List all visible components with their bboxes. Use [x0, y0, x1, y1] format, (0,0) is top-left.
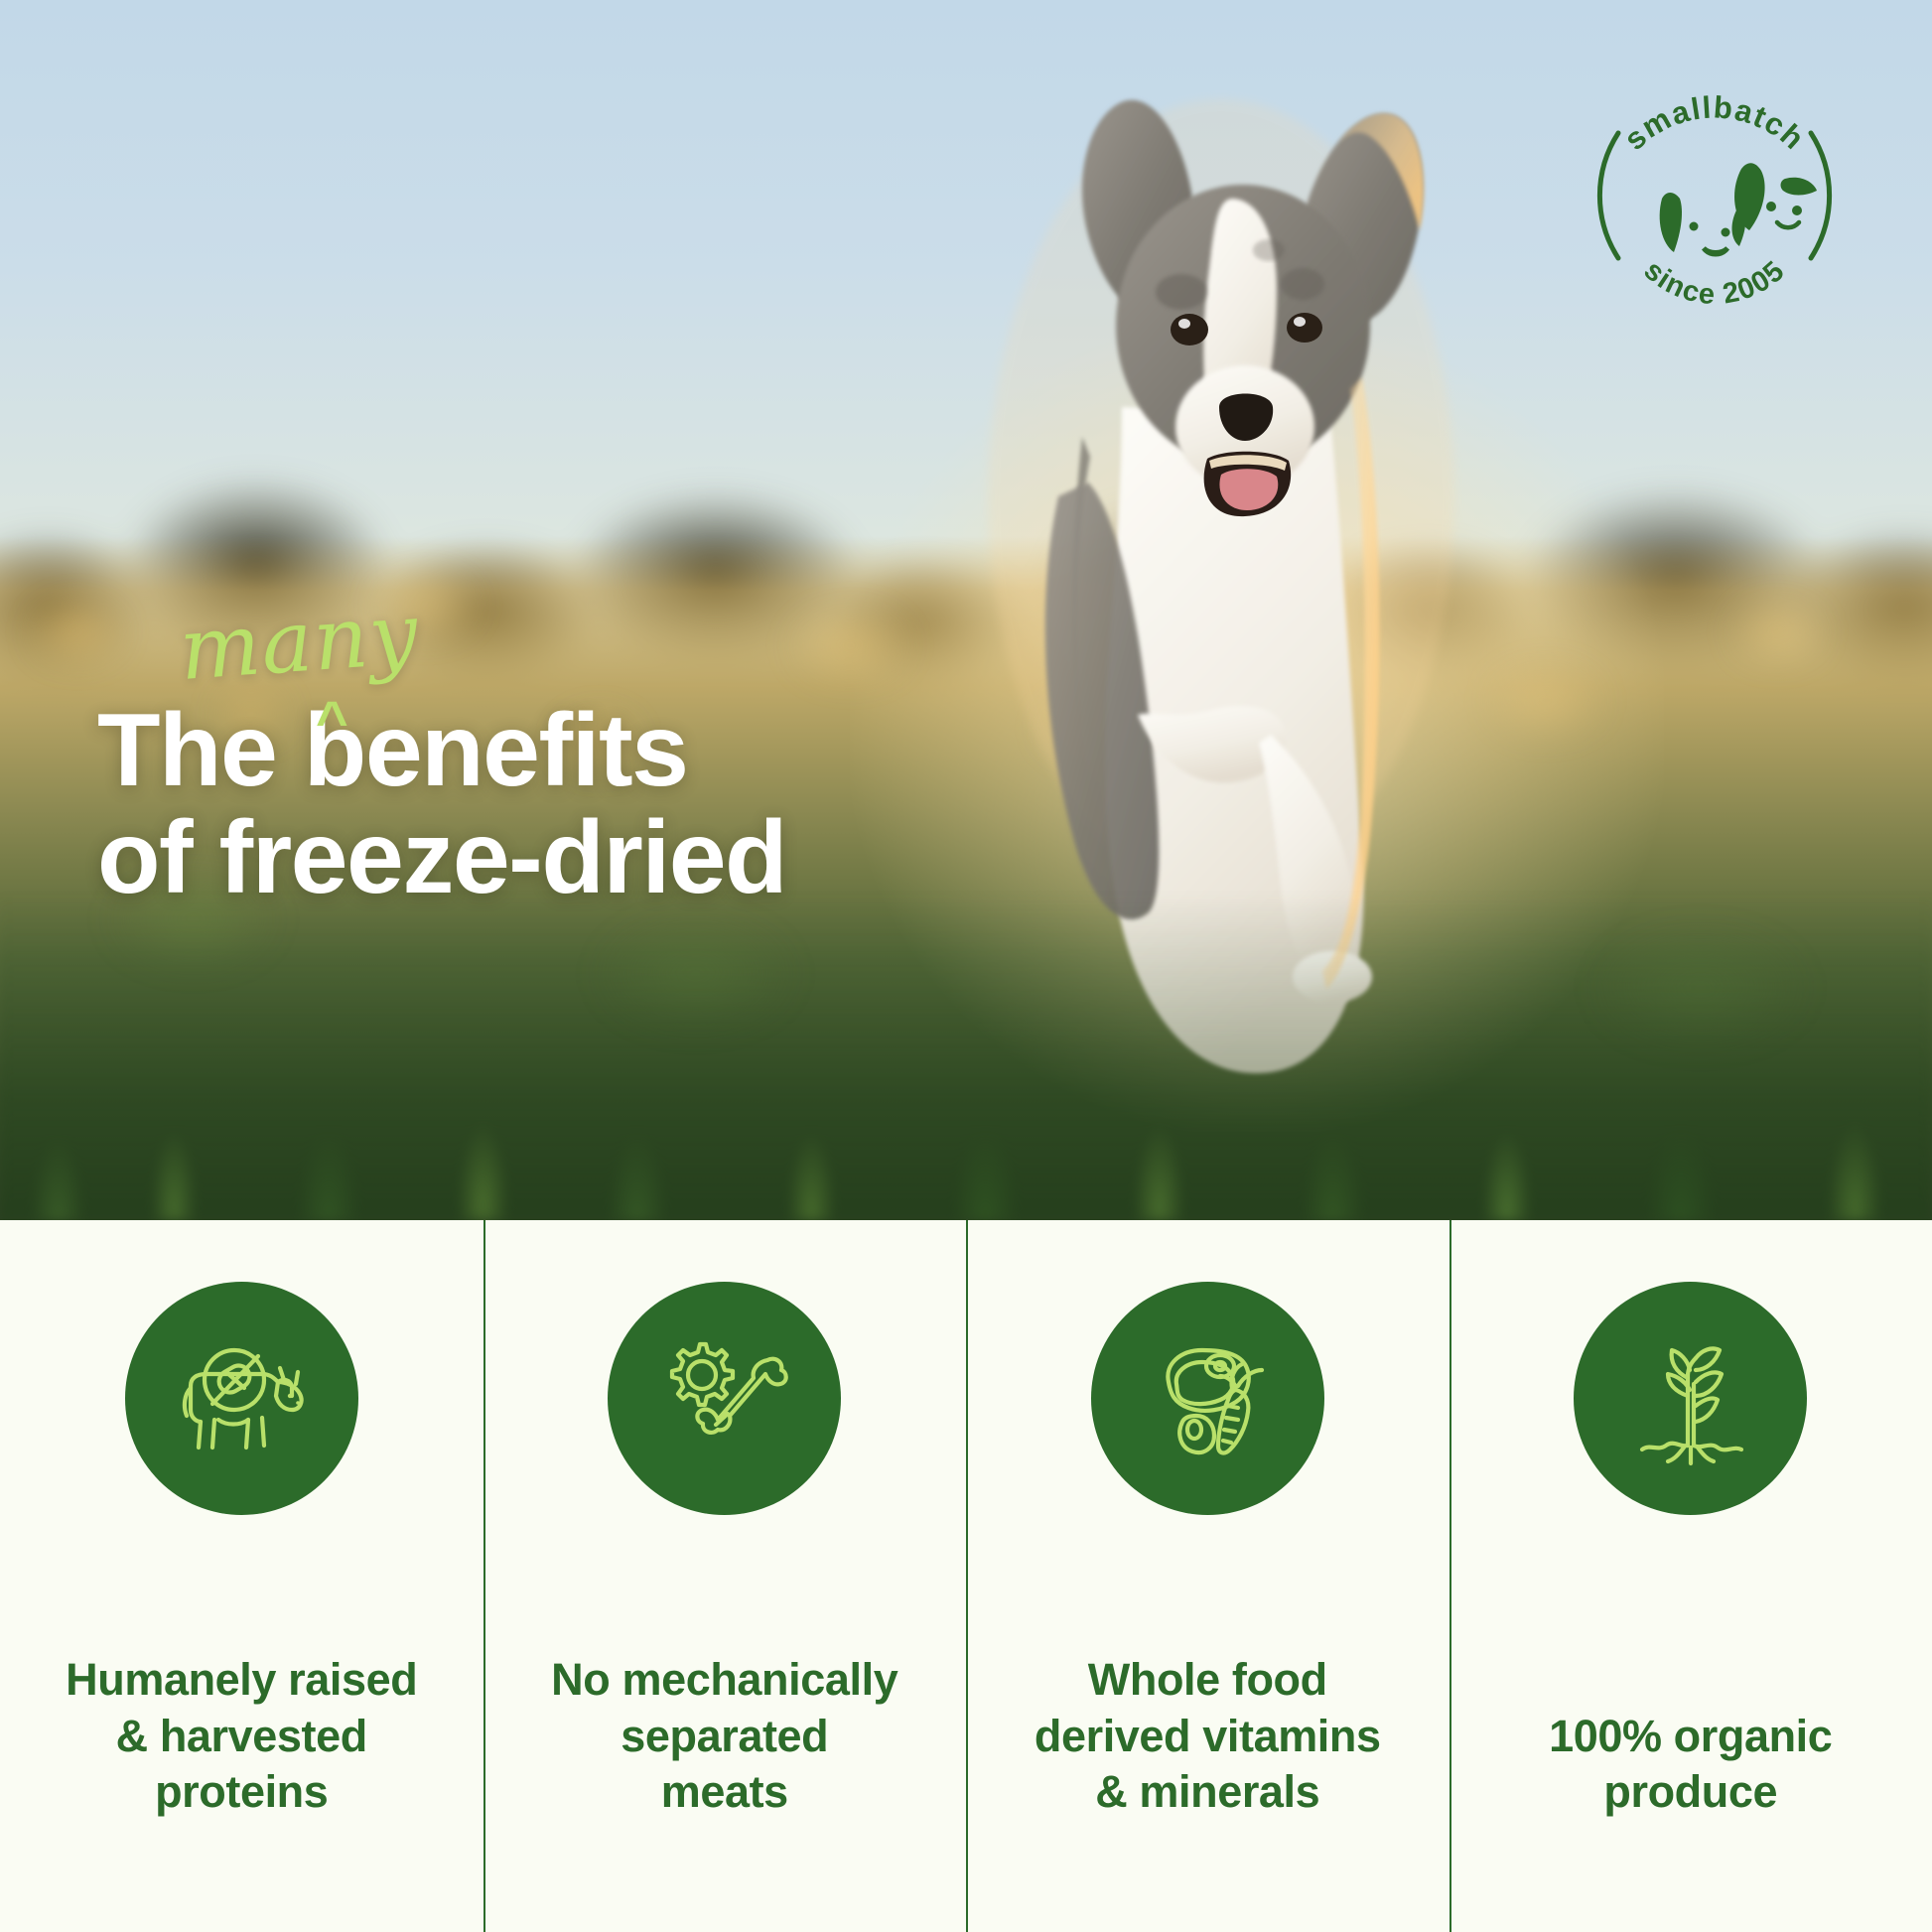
benefit-card-organic-produce: 100% organic produce [1449, 1220, 1932, 1932]
dog-and-cat-faces-icon [1660, 163, 1817, 254]
dog-eye-left [1171, 314, 1208, 345]
page-title: The benefits of freeze-dried [97, 697, 1011, 911]
hero-photo: smallbatch since 2005 [0, 0, 1932, 1220]
benefit-icon-circle-4 [1574, 1282, 1807, 1515]
logo-bottom-text: since 2005 [1638, 254, 1792, 311]
benefit-caption-3: Whole food derived vitamins & minerals [1021, 1652, 1395, 1821]
benefit-icon-circle-3 [1091, 1282, 1324, 1515]
logo-top-text: smallbatch [1617, 89, 1812, 157]
benefit-caption-2: No mechanically separated meats [537, 1652, 911, 1821]
headline-caret-icon: ^ [316, 693, 348, 749]
benefits-panel: Humanely raised & harvested proteins No … [0, 1220, 1932, 1932]
headline-script-many: many [177, 591, 421, 693]
benefit-card-whole-food: Whole food derived vitamins & minerals [966, 1220, 1449, 1932]
foreground-grass [0, 893, 1932, 1220]
hero-headline-block: many ^ The benefits of freeze-dried [97, 608, 1011, 911]
bracket-left-icon [1599, 133, 1618, 258]
headline-line-1: The benefits [97, 697, 1011, 804]
dog-eye-right [1287, 313, 1322, 343]
benefit-card-humanely-raised: Humanely raised & harvested proteins [0, 1220, 483, 1932]
sprout-in-soil-icon [1616, 1324, 1765, 1473]
benefit-caption-1: Humanely raised & harvested proteins [52, 1652, 431, 1821]
steak-carrot-egg-icon [1133, 1324, 1282, 1473]
smallbatch-benefits-ad: smallbatch since 2005 [0, 0, 1932, 1932]
bracket-right-icon [1811, 133, 1830, 258]
benefit-card-no-msm: No mechanically separated meats [483, 1220, 967, 1932]
gear-and-bone-icon [650, 1324, 799, 1473]
cow-no-antibiotics-icon [167, 1324, 316, 1473]
smallbatch-logo-badge: smallbatch since 2005 [1571, 52, 1859, 340]
benefit-icon-circle-2 [608, 1282, 841, 1515]
benefit-icon-circle-1 [125, 1282, 358, 1515]
benefit-caption-4: 100% organic produce [1535, 1709, 1846, 1821]
